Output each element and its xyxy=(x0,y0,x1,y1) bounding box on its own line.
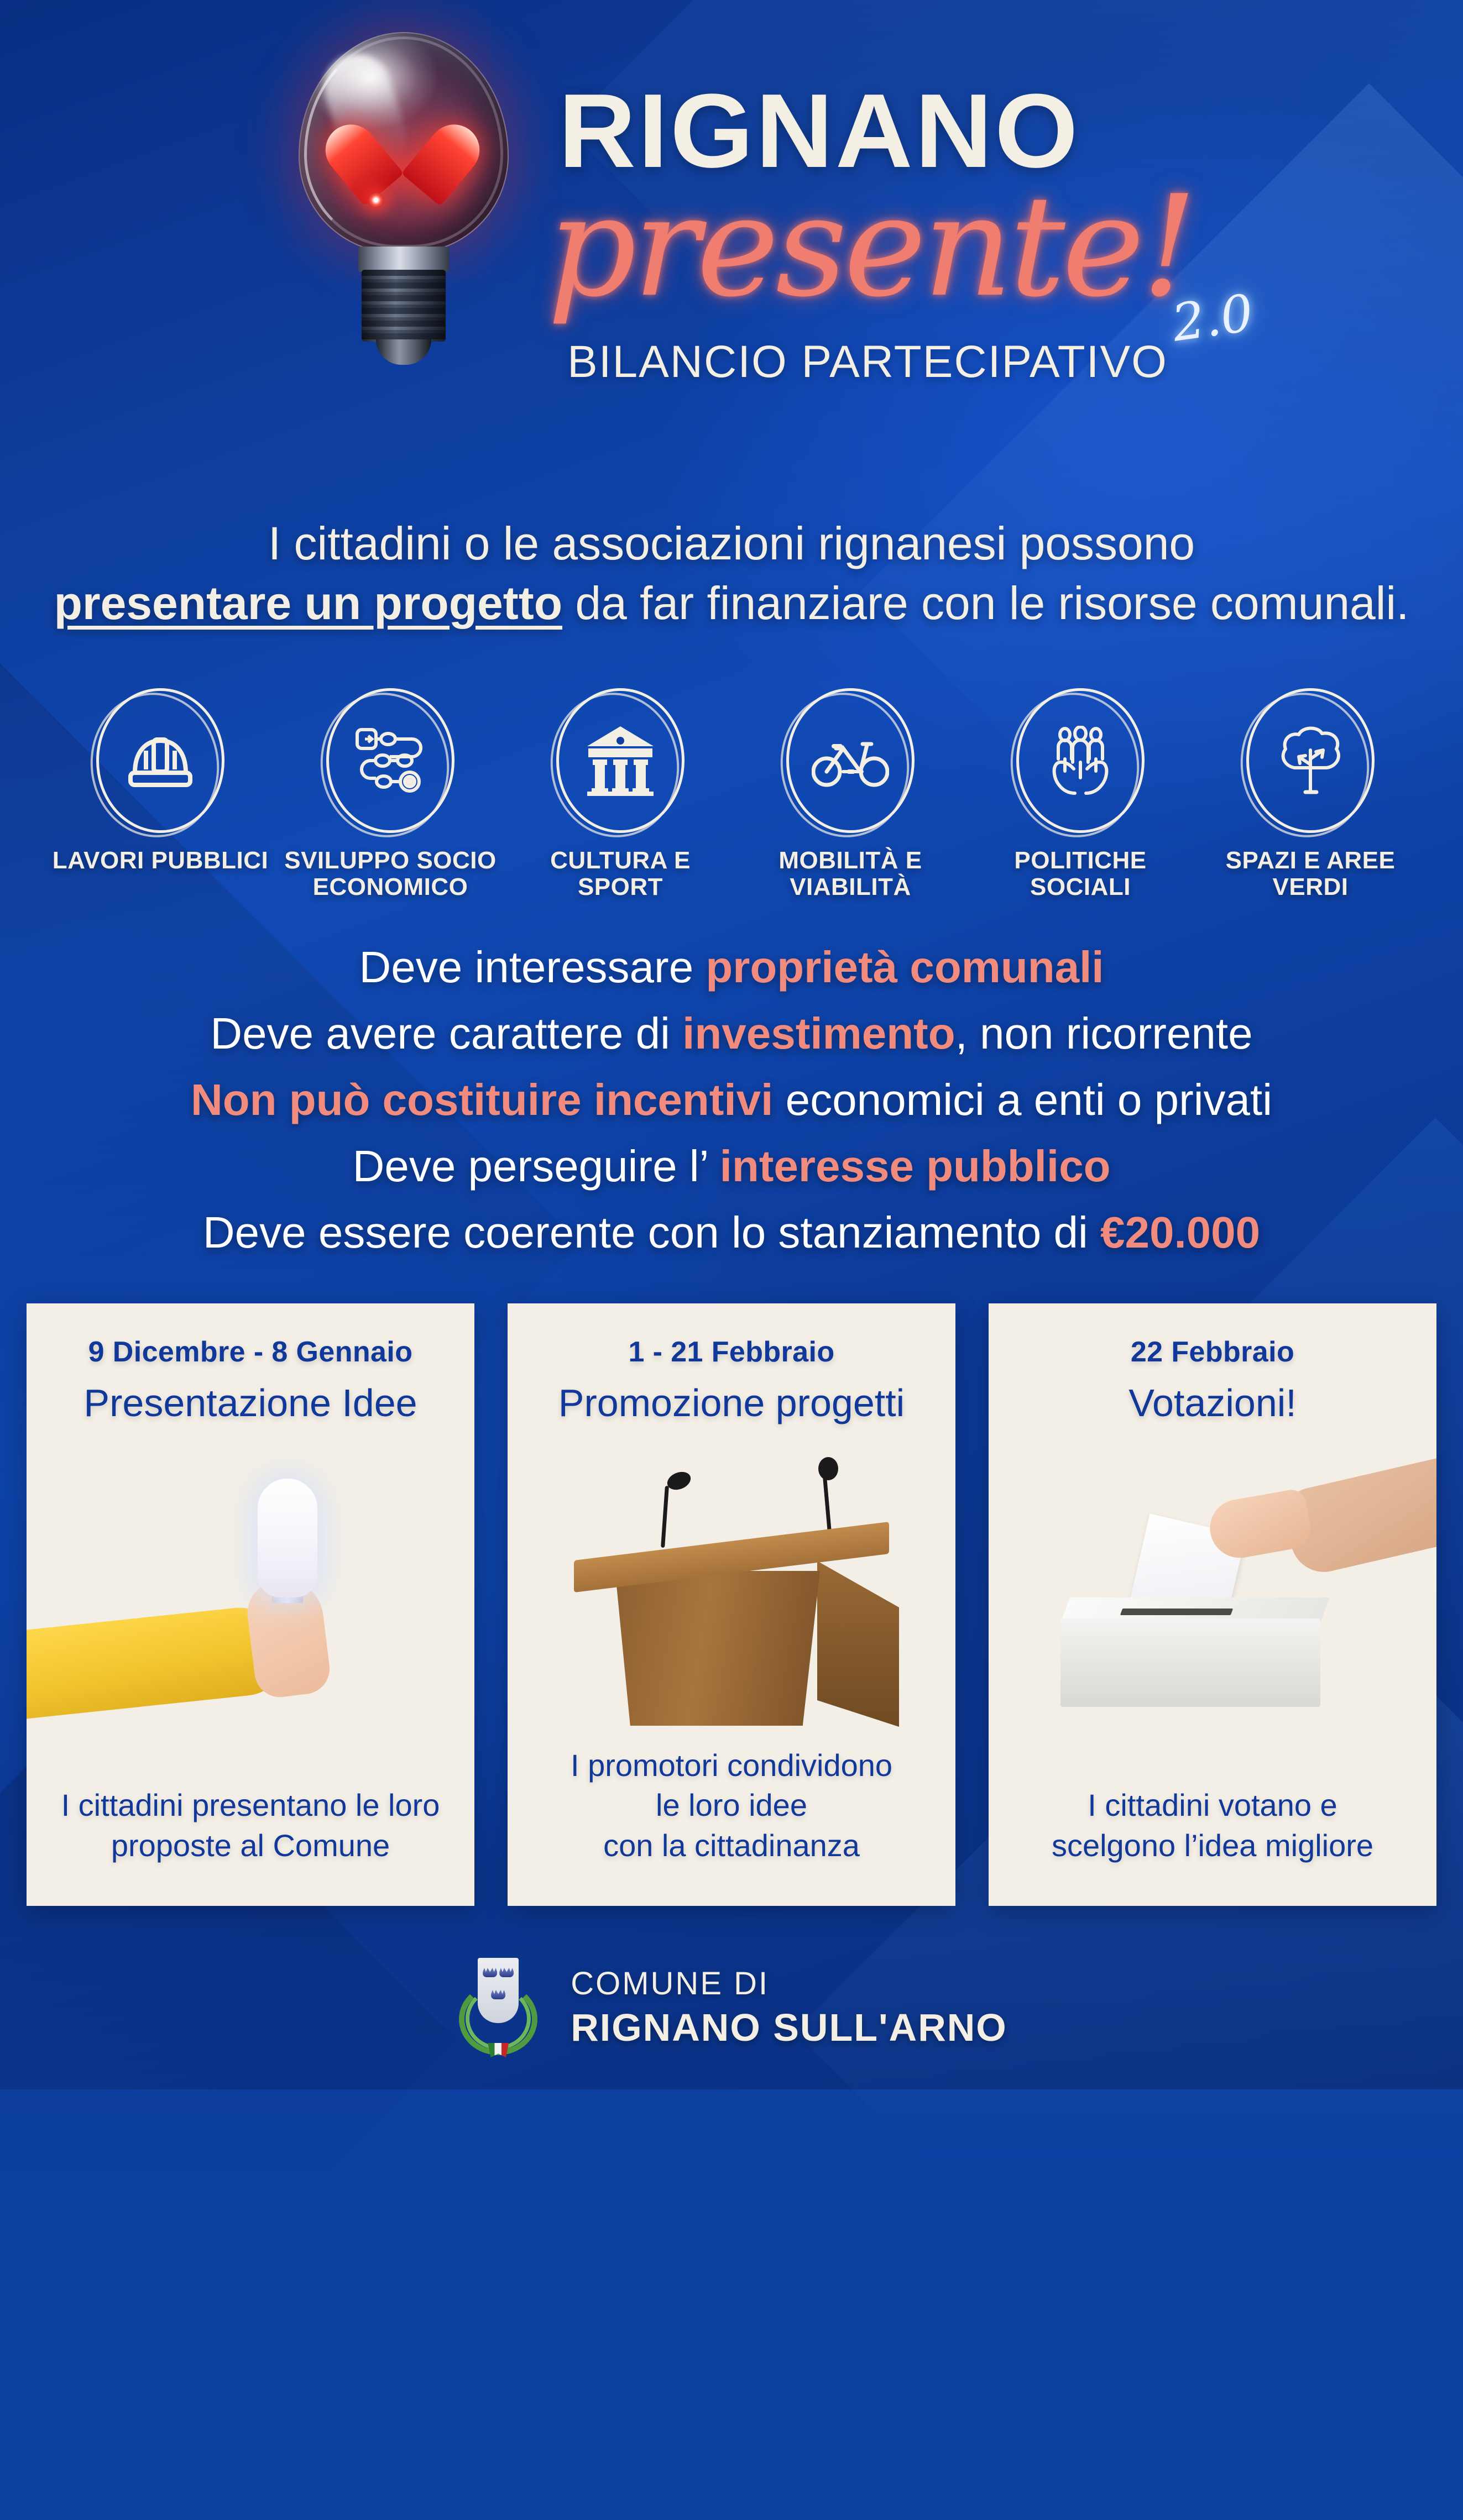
rule-pre: Deve perseguire l’ xyxy=(353,1141,720,1191)
microphone-head xyxy=(665,1469,693,1493)
rule-pre: Deve essere coerente con lo stanziamento… xyxy=(203,1208,1100,1257)
heart-lightbulb-icon xyxy=(288,27,520,474)
tricolor-ribbon xyxy=(488,2043,509,2057)
category-label: POLITICHE SOCIALI xyxy=(970,847,1191,900)
title-version-badge: 2.0 xyxy=(1168,283,1257,353)
tree-icon xyxy=(1246,688,1375,833)
lightbulb-shape xyxy=(258,1479,317,1597)
timeline-card-votazioni: 22 Febbraio Votazioni! I cittadini votan… xyxy=(989,1303,1436,1906)
rule-item: Deve interessare proprietà comunali xyxy=(0,934,1463,1000)
category-sviluppo-socio-economico: SVILUPPO SOCIO ECONOMICO xyxy=(280,688,501,900)
hands-holding-people-icon xyxy=(1016,688,1145,833)
intro-line-2-rest: da far finanziare con le risorse comunal… xyxy=(562,577,1409,629)
footer-line-1: COMUNE DI xyxy=(571,1965,1007,2002)
card-body: I promotori condividono le loro idee con… xyxy=(530,1746,933,1866)
poster-footer: COMUNE DI RIGNANO SULL'ARNO xyxy=(0,1955,1463,2060)
comune-coat-of-arms-icon xyxy=(456,1955,540,2060)
card-title: Votazioni! xyxy=(989,1381,1436,1425)
rule-pre: Deve interessare xyxy=(359,942,706,992)
rule-post: , non ricorrente xyxy=(955,1009,1253,1058)
category-spazi-e-aree-verdi: SPAZI E AREE VERDI xyxy=(1200,688,1421,900)
card-date: 9 Dicembre - 8 Gennaio xyxy=(27,1335,474,1369)
poster-header: RIGNANO presente! 2.0 BILANCIO PARTECIPA… xyxy=(0,0,1463,497)
card-body-line: I cittadini presentano le loro xyxy=(49,1785,452,1826)
footer-line-2: RIGNANO SULL'ARNO xyxy=(571,2005,1007,2050)
podium-side xyxy=(817,1561,899,1727)
category-mobilita-e-viabilita: MOBILITÀ E VIABILITÀ xyxy=(740,688,961,900)
card-title: Promozione progetti xyxy=(508,1381,955,1425)
rule-item: Deve perseguire l’ interesse pubblico xyxy=(0,1133,1463,1199)
card-body-line: proposte al Comune xyxy=(49,1826,452,1866)
bulb-neck xyxy=(358,247,449,272)
rule-pre: Deve avere carattere di xyxy=(210,1009,682,1058)
intro-line-1: I cittadini o le associazioni rignanesi … xyxy=(0,514,1463,574)
rule-accent: proprietà comunali xyxy=(706,942,1104,992)
intro-line-2: presentare un progetto da far finanziare… xyxy=(0,574,1463,633)
category-politiche-sociali: POLITICHE SOCIALI xyxy=(970,688,1191,900)
podium-body xyxy=(604,1571,820,1726)
rule-post: economici a enti o privati xyxy=(773,1075,1272,1124)
footer-text: COMUNE DI RIGNANO SULL'ARNO xyxy=(571,1965,1007,2050)
rule-accent: Non può costituire incentivi xyxy=(191,1075,773,1124)
rule-accent: interesse pubblico xyxy=(720,1141,1111,1191)
category-label: SVILUPPO SOCIO ECONOMICO xyxy=(280,847,501,900)
category-label: MOBILITÀ E VIABILITÀ xyxy=(740,847,961,900)
category-list: LAVORI PUBBLICI xyxy=(50,688,1421,900)
title-script: presente! xyxy=(547,166,1194,328)
bulb-core-glow xyxy=(368,192,384,208)
card-body-line: scelgono l’idea migliore xyxy=(1011,1826,1414,1866)
card-date: 1 - 21 Febbraio xyxy=(508,1335,955,1369)
category-lavori-pubblici: LAVORI PUBBLICI xyxy=(50,688,271,874)
category-label: CULTURA E SPORT xyxy=(510,847,731,900)
rule-item: Non può costituire incentivi economici a… xyxy=(0,1067,1463,1133)
card-body: I cittadini presentano le loro proposte … xyxy=(49,1785,452,1866)
hand-casting-ballot-image xyxy=(989,1453,1436,1729)
card-date: 22 Febbraio xyxy=(989,1335,1436,1369)
card-body: I cittadini votano e scelgono l’idea mig… xyxy=(1011,1785,1414,1866)
hard-hat-icon xyxy=(96,688,224,833)
podium-with-microphones-image xyxy=(508,1453,955,1729)
title-block: RIGNANO presente! 2.0 BILANCIO PARTECIPA… xyxy=(558,83,1377,392)
ballot-box-slot xyxy=(1120,1609,1233,1615)
category-label: LAVORI PUBBLICI xyxy=(53,847,268,874)
intro-section: I cittadini o le associazioni rignanesi … xyxy=(0,514,1463,633)
card-body-line: I cittadini votano e xyxy=(1011,1785,1414,1826)
card-title: Presentazione Idee xyxy=(27,1381,474,1425)
bulb-screw-base xyxy=(362,270,446,342)
timeline-cards: 9 Dicembre - 8 Gennaio Presentazione Ide… xyxy=(27,1303,1436,1906)
card-body-line: con la cittadinanza xyxy=(530,1826,933,1866)
bicycle-icon xyxy=(786,688,915,833)
bulb-tip xyxy=(376,339,431,365)
rules-list: Deve interessare proprietà comunali Deve… xyxy=(0,934,1463,1266)
rule-accent: investimento xyxy=(682,1009,955,1058)
category-label: SPAZI E AREE VERDI xyxy=(1200,847,1421,900)
timeline-card-promozione-progetti: 1 - 21 Febbraio Promozione progetti I pr… xyxy=(508,1303,955,1906)
timeline-card-presentazione-idee: 9 Dicembre - 8 Gennaio Presentazione Ide… xyxy=(27,1303,474,1906)
category-cultura-e-sport: CULTURA E SPORT xyxy=(510,688,731,900)
heart-filament-icon xyxy=(353,109,452,198)
card-body-line: I promotori condividono xyxy=(530,1746,933,1786)
rule-item: Deve essere coerente con lo stanziamento… xyxy=(0,1199,1463,1266)
intro-emphasis: presentare un progetto xyxy=(54,577,562,629)
ballot-box xyxy=(1060,1618,1320,1707)
microphone-stem xyxy=(661,1486,669,1548)
rule-item: Deve avere carattere di investimento, no… xyxy=(0,1000,1463,1067)
card-body-line: le loro idee xyxy=(530,1785,933,1826)
network-flow-icon xyxy=(326,688,454,833)
classical-building-icon xyxy=(556,688,685,833)
page-title: RIGNANO xyxy=(558,83,1393,180)
microphone-head xyxy=(818,1457,838,1480)
page-subtitle: BILANCIO PARTECIPATIVO xyxy=(567,336,1168,388)
hand-holding-lightbulb-image xyxy=(27,1453,474,1729)
rule-accent: €20.000 xyxy=(1100,1208,1260,1257)
crest-shield xyxy=(478,1958,519,2023)
